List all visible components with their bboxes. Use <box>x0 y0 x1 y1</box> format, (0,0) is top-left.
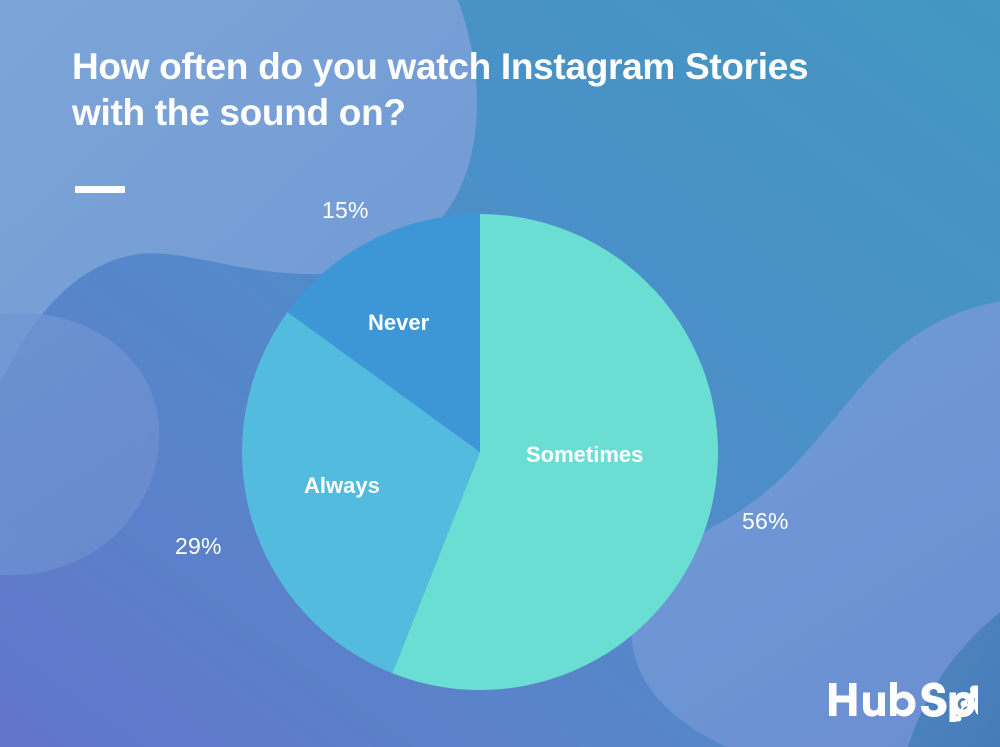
page-title: How often do you watch Instagram Stories… <box>72 44 962 136</box>
hubspot-wordmark-icon <box>828 676 978 722</box>
title-rule-decoration <box>75 186 125 193</box>
title-block: How often do you watch Instagram Stories… <box>72 44 962 136</box>
hubspot-logo: HubSpot <box>828 676 978 722</box>
infographic-canvas: How often do you watch Instagram Stories… <box>0 0 1000 747</box>
